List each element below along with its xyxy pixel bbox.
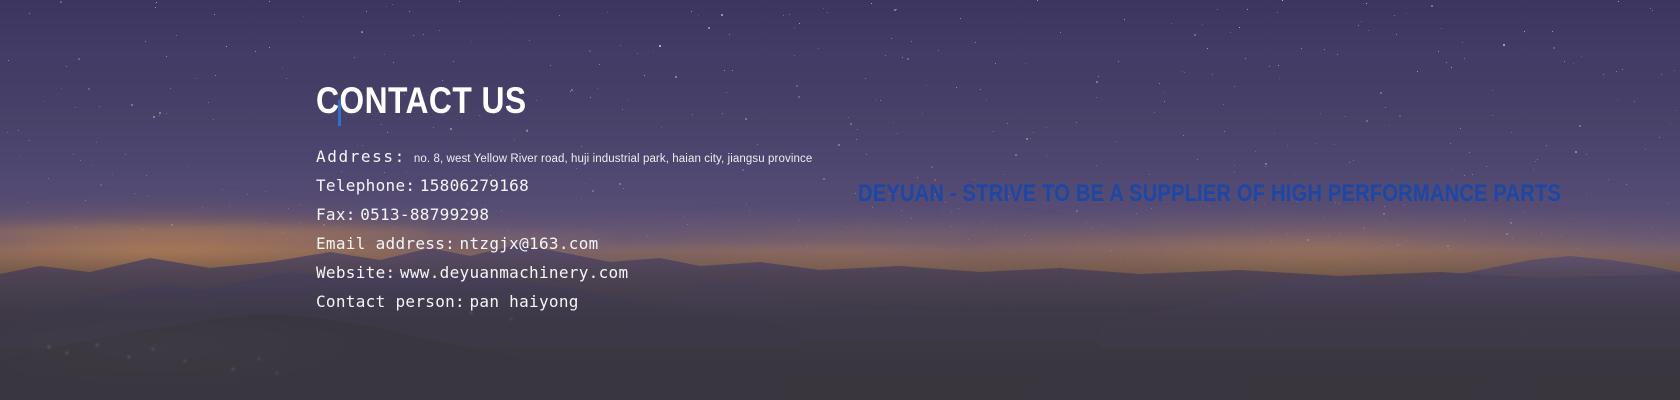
contact-row-address: Address:no. 8, west Yellow River road, h… xyxy=(316,142,956,171)
contact-value-contact-person: pan haiyong xyxy=(469,292,578,311)
contact-label-email: Email address: xyxy=(316,234,455,253)
contact-value-email[interactable]: ntzgjx@163.com xyxy=(460,234,599,253)
company-slogan: DEYUAN - STRIVE TO BE A SUPPLIER OF HIGH… xyxy=(858,182,1561,206)
contact-value-fax: 0513-88799298 xyxy=(360,205,489,224)
contact-row-email: Email address: ntzgjx@163.com xyxy=(316,229,956,258)
contact-label-website: Website: xyxy=(316,263,395,282)
page-title: CONTACT US xyxy=(316,82,527,119)
title-accent-bar xyxy=(338,100,341,126)
contact-value-address: no. 8, west Yellow River road, huji indu… xyxy=(414,153,812,165)
contact-value-website[interactable]: www.deyuanmachinery.com xyxy=(400,263,628,282)
contact-row-website: Website: www.deyuanmachinery.com xyxy=(316,258,956,287)
contact-banner: CONTACT US Address:no. 8, west Yellow Ri… xyxy=(0,0,1680,400)
contact-label-telephone: Telephone: xyxy=(316,176,415,195)
contact-value-telephone[interactable]: 15806279168 xyxy=(420,176,529,195)
contact-row-contact-person: Contact person: pan haiyong xyxy=(316,287,956,316)
contact-label-address: Address: xyxy=(316,147,406,166)
contact-label-contact-person: Contact person: xyxy=(316,292,465,311)
banner-content: CONTACT US Address:no. 8, west Yellow Ri… xyxy=(0,0,1680,400)
contact-label-fax: Fax: xyxy=(316,205,356,224)
contact-details-list: Address:no. 8, west Yellow River road, h… xyxy=(316,142,956,316)
